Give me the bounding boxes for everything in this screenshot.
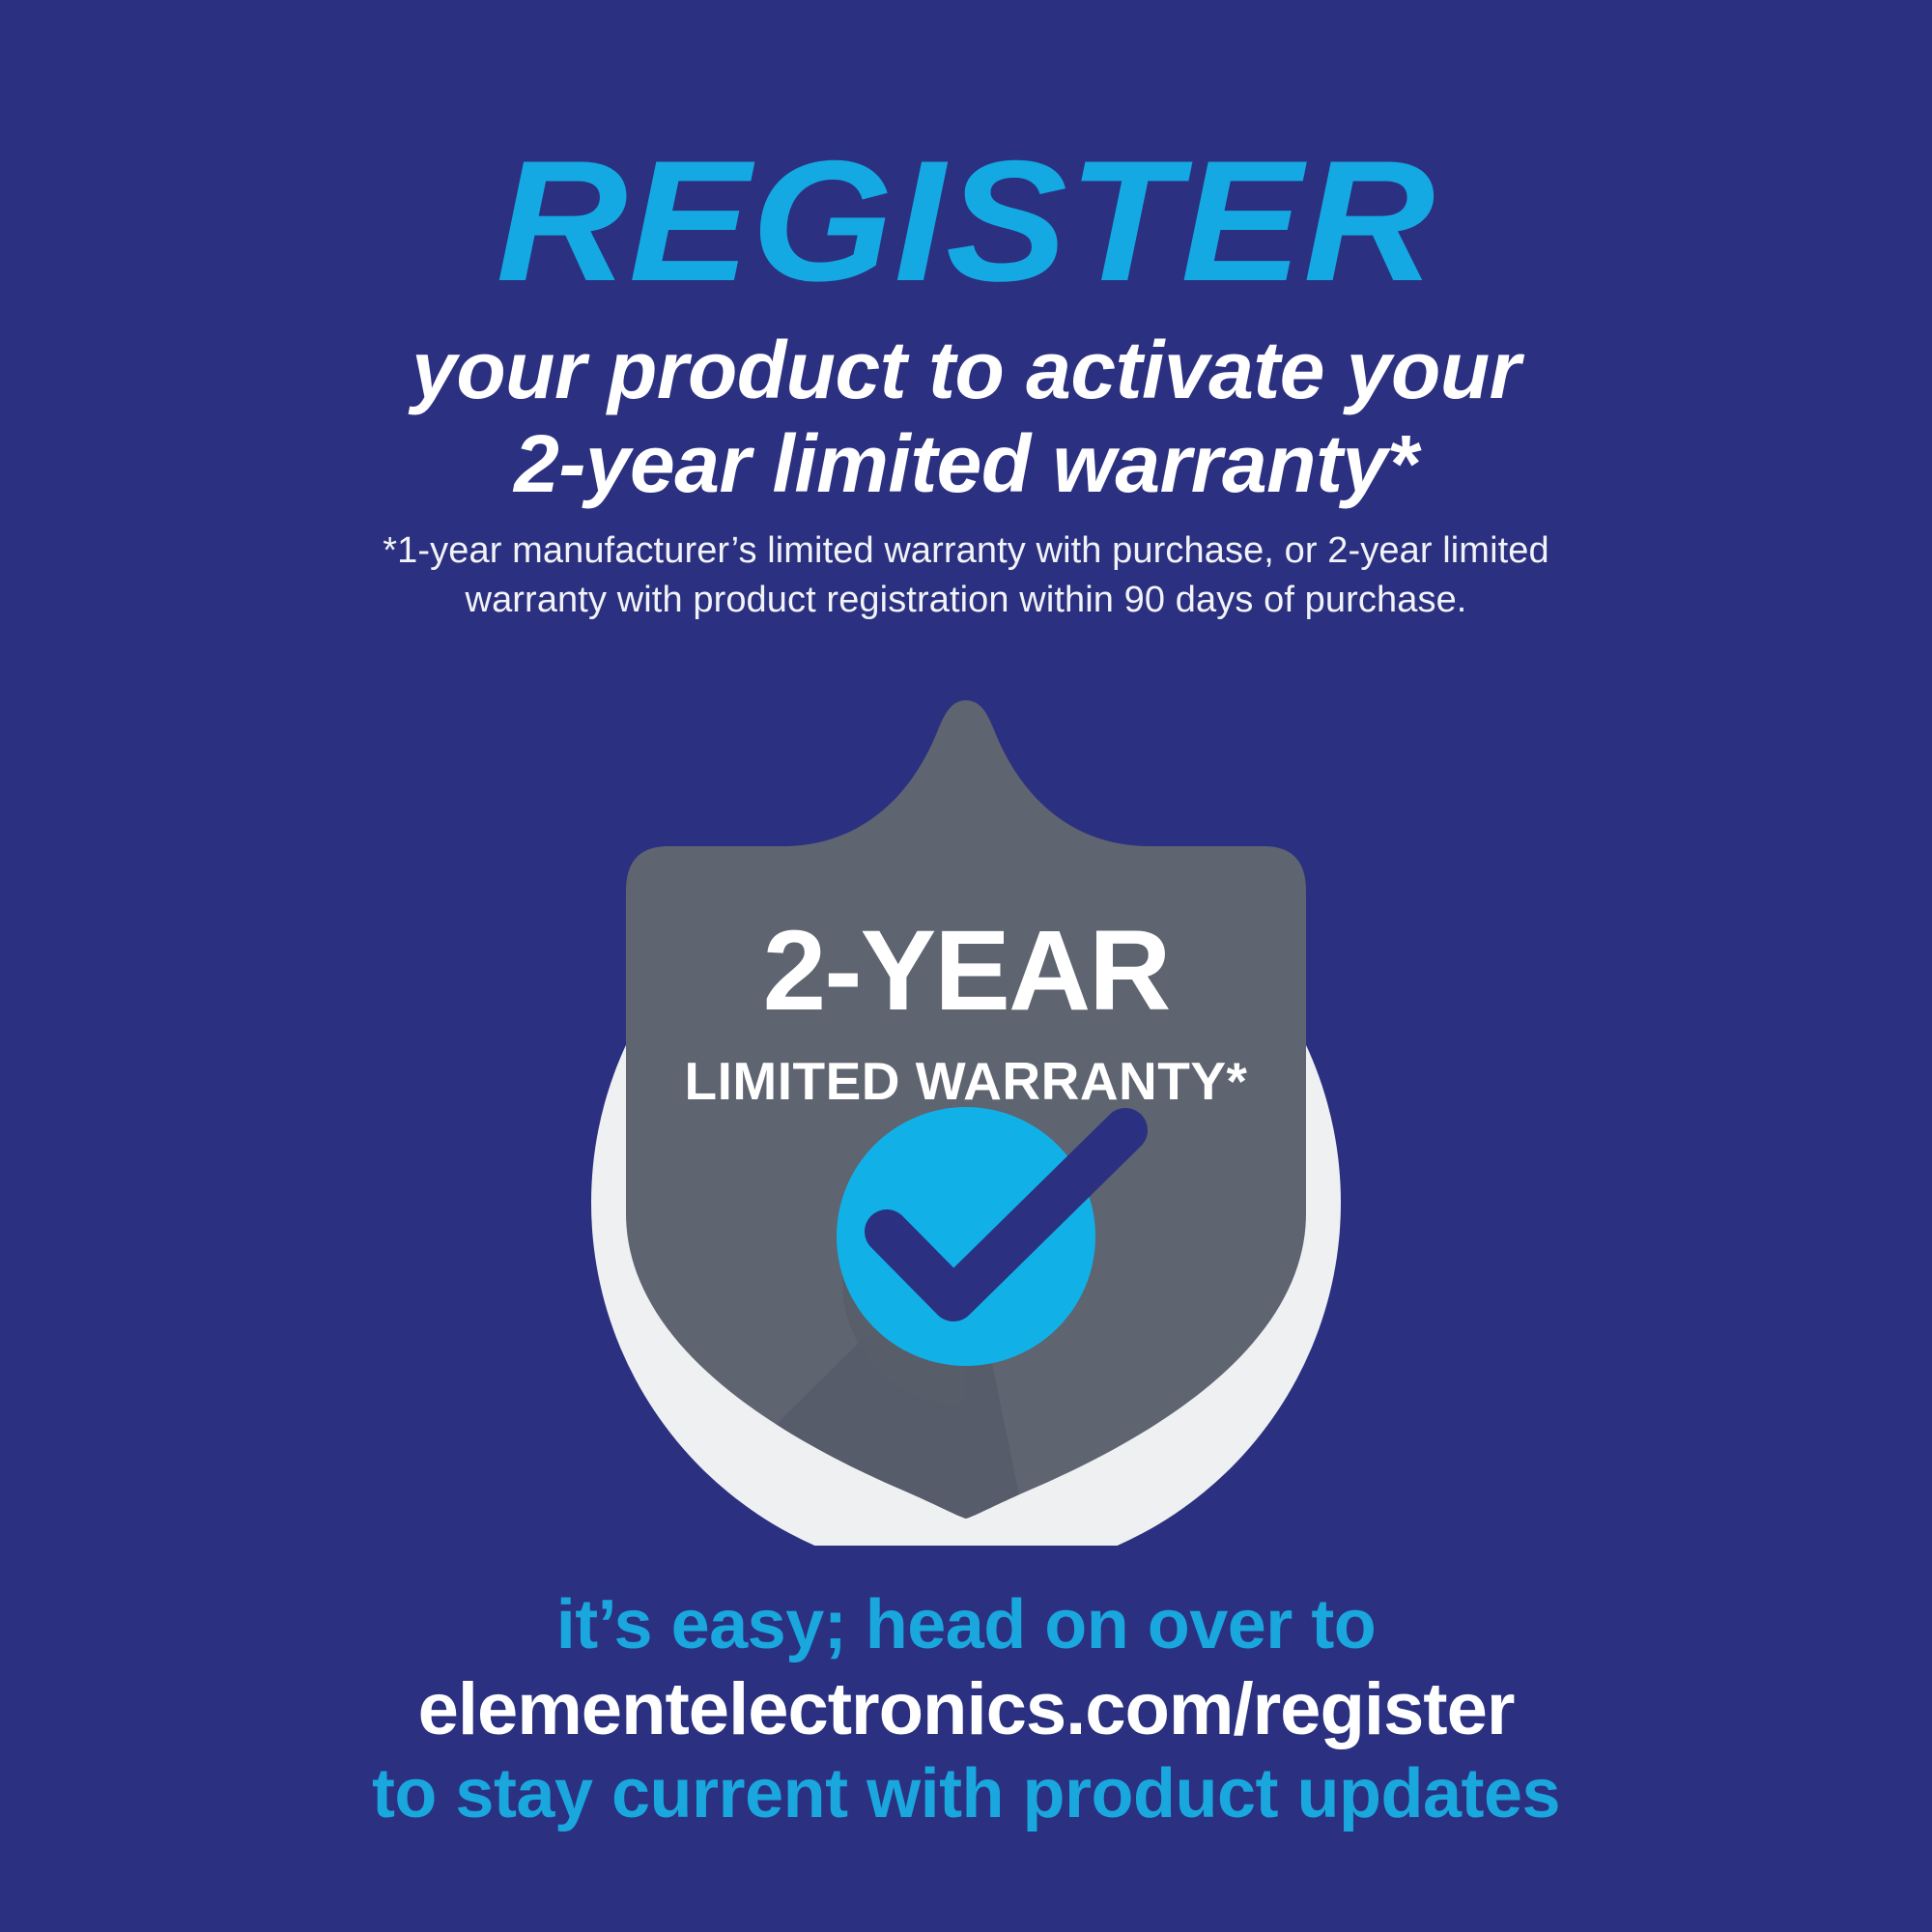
subtitle: your product to activate your 2-year lim… — [213, 324, 1719, 512]
cta-line-3: to stay current with product updates — [145, 1753, 1787, 1835]
subtitle-line-2: 2-year limited warranty* — [213, 417, 1719, 511]
disclaimer-text: *1-year manufacturer’s limited warranty … — [357, 526, 1575, 624]
registration-url[interactable]: elementelectronics.com/register — [145, 1666, 1787, 1753]
disclaimer-line-1: *1-year manufacturer’s limited warranty … — [357, 526, 1575, 576]
cta-line-1: it’s easy; head on over to — [145, 1584, 1787, 1666]
shield-icon: 2-YEAR LIMITED WARRANTY* — [483, 676, 1449, 1546]
badge-primary-label: 2-YEAR — [763, 907, 1170, 1035]
warranty-badge: 2-YEAR LIMITED WARRANTY* — [483, 676, 1449, 1546]
page-title: REGISTER — [0, 133, 1932, 309]
disclaimer-line-2: warranty with product registration withi… — [357, 576, 1575, 625]
warranty-registration-poster: REGISTER your product to activate your 2… — [0, 0, 1932, 1932]
badge-secondary-label: LIMITED WARRANTY* — [685, 1051, 1248, 1111]
cta-block: it’s easy; head on over to elementelectr… — [145, 1584, 1787, 1835]
subtitle-line-1: your product to activate your — [213, 324, 1719, 417]
